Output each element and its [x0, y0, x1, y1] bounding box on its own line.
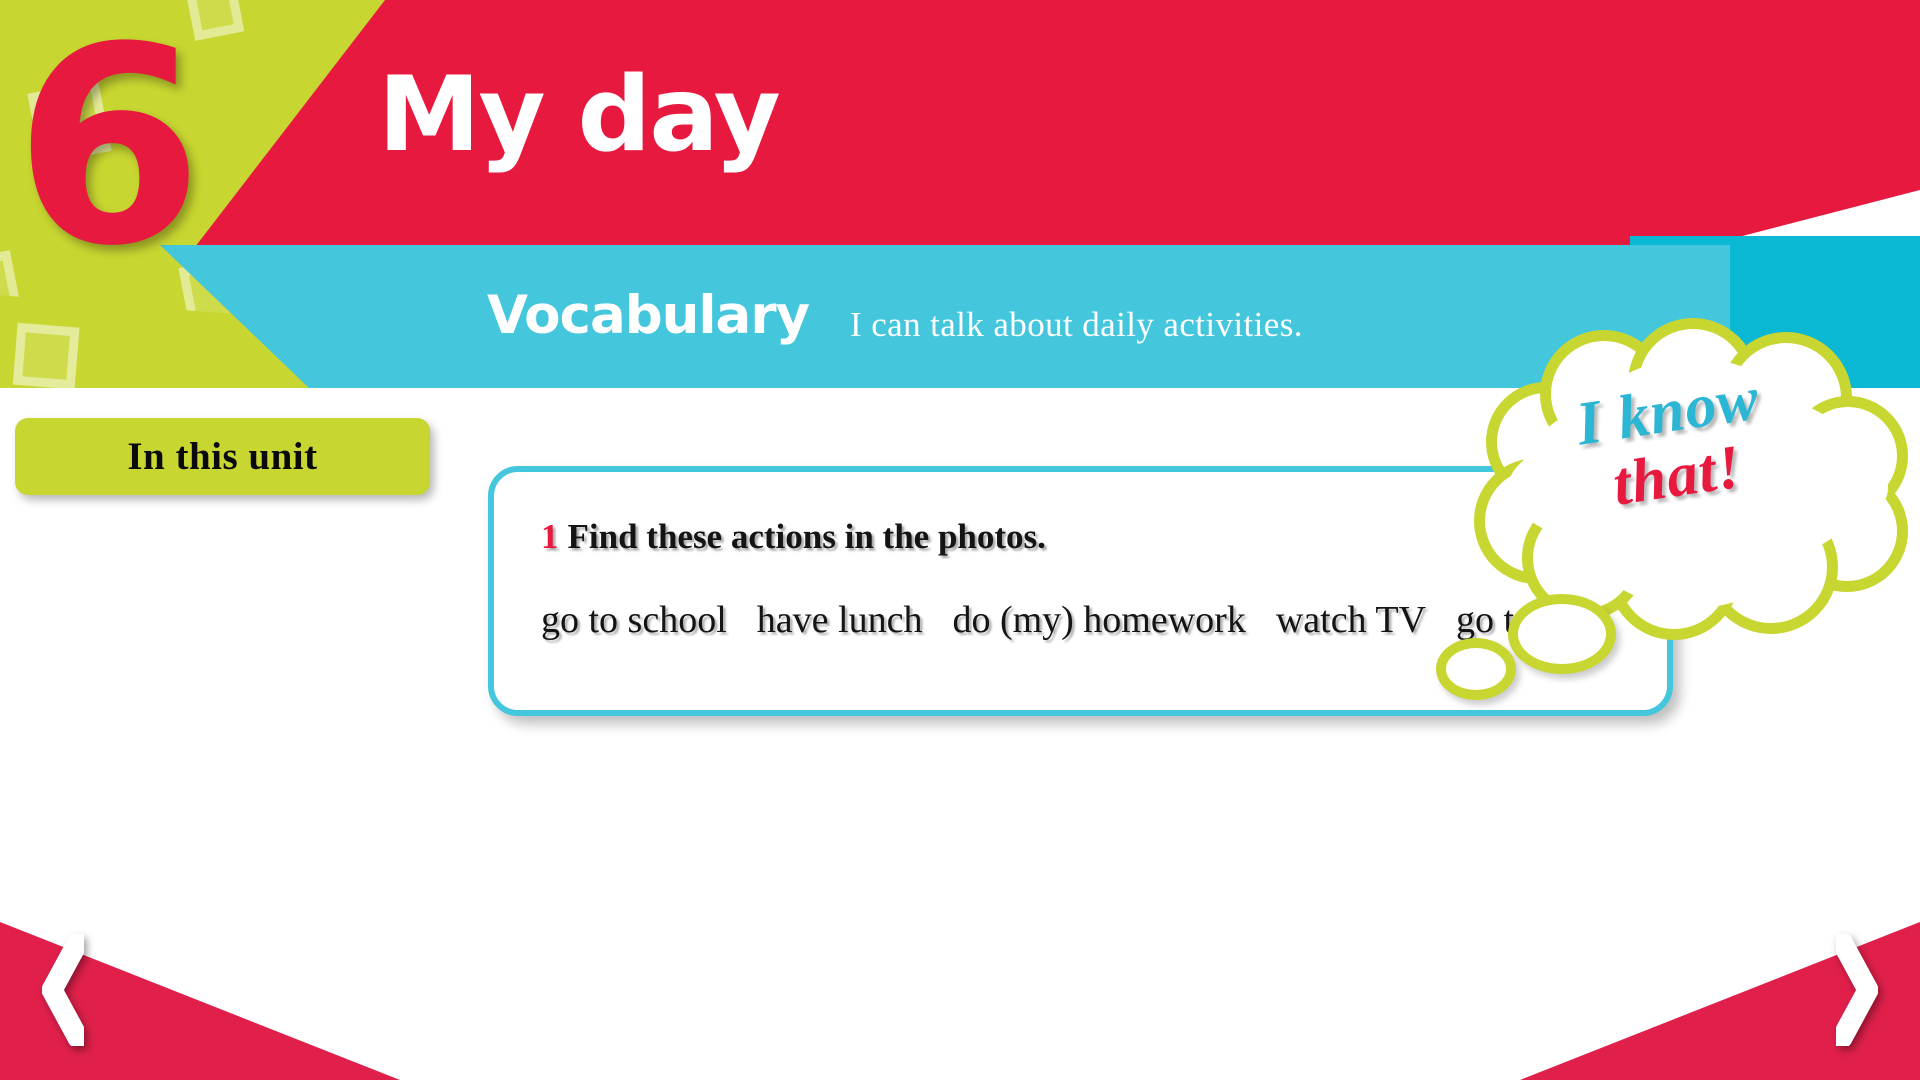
next-page-button[interactable] — [1520, 900, 1920, 1080]
cloud-trail-bubble-large — [1508, 594, 1616, 674]
vocabulary-word-list: go to schoolhave lunchdo (my) homeworkwa… — [541, 599, 1551, 642]
in-this-unit-label: In this unit — [127, 434, 317, 479]
chevron-left-icon — [42, 934, 84, 1046]
cloud-trail-bubble-small — [1436, 638, 1516, 700]
vocabulary-word: go to school — [541, 599, 727, 641]
i-know-that-cloud: I know that! — [1468, 318, 1920, 618]
lesson-goal-text: I can talk about daily activities. — [850, 307, 1303, 342]
vocabulary-word: have lunch — [757, 599, 923, 641]
vocabulary-word: do (my) homework — [952, 599, 1245, 641]
chevron-right-icon — [1836, 934, 1878, 1046]
in-this-unit-button[interactable]: In this unit — [15, 418, 430, 495]
exercise-instruction: Find these actions in the photos. — [568, 517, 1046, 556]
previous-page-button[interactable] — [0, 900, 400, 1080]
slide-root: 6 My day Vocabulary I can talk about dai… — [0, 0, 1920, 1080]
page-title: My day — [378, 64, 779, 167]
unit-number: 6 — [14, 12, 197, 284]
exercise-heading: 1Find these actions in the photos. — [541, 517, 1046, 557]
exercise-number: 1 — [541, 517, 559, 556]
lesson-type-label: Vocabulary — [487, 289, 809, 342]
vocabulary-word: watch TV — [1276, 599, 1426, 641]
